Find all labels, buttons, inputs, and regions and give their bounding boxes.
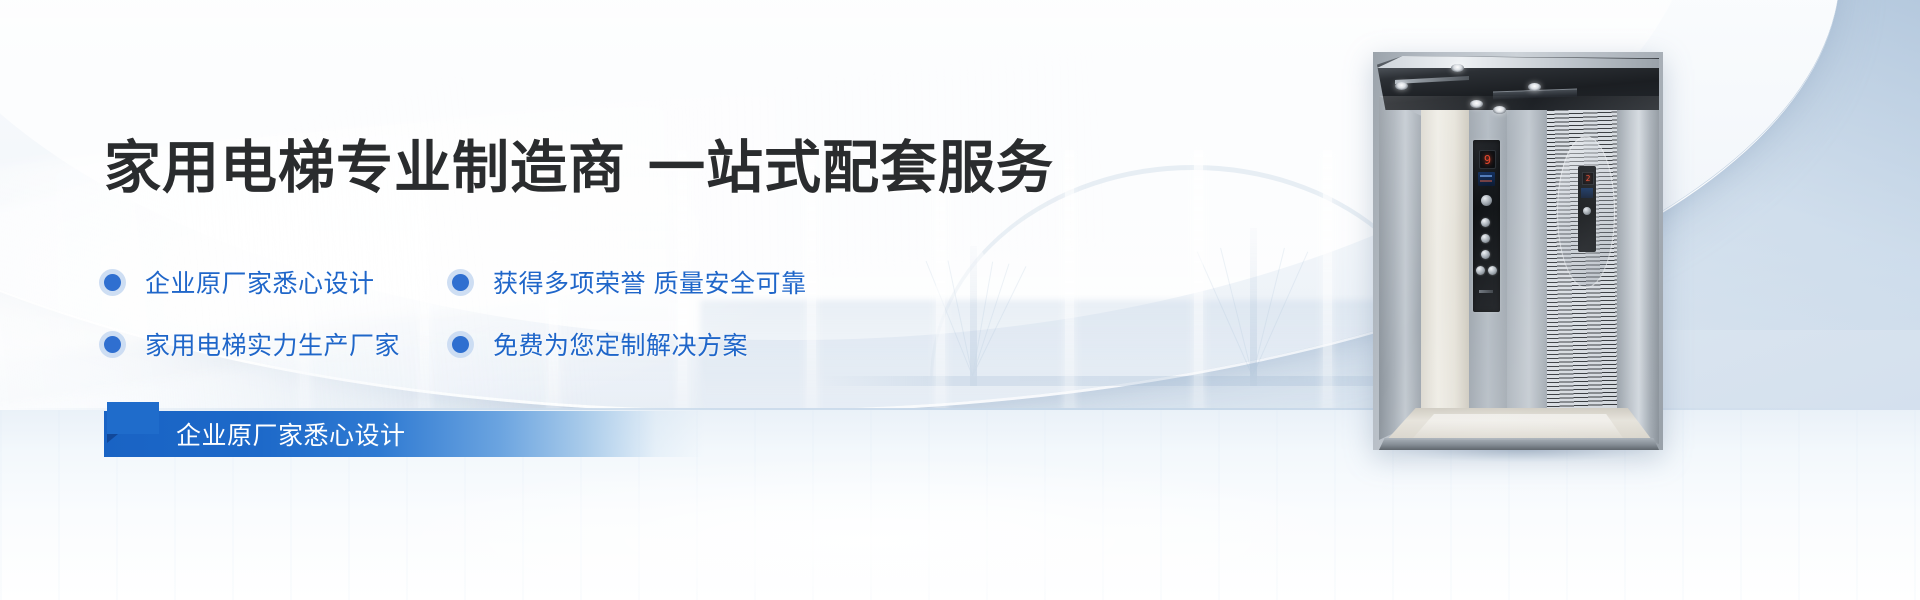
secondary-floor-display: 2 (1582, 172, 1594, 185)
secondary-info-strip (1581, 188, 1593, 198)
headline-secondary: 一站式配套服务 (648, 136, 1054, 200)
floor-indicator-value: 9 (1484, 154, 1491, 166)
ceiling-spotlight-icon (1528, 83, 1541, 91)
door-close-button[interactable] (1488, 266, 1497, 275)
window-mullion (1323, 150, 1332, 450)
secondary-main-button[interactable] (1583, 207, 1591, 215)
promo-banner: 家用电梯专业制造商一站式配套服务 企业原厂家悉心设计 获得多项荣誉 质量安全可靠… (0, 0, 1920, 600)
bullet-dot-icon (452, 274, 469, 291)
elevator-cream-panel (1421, 100, 1469, 436)
elevator-right-wall (1617, 92, 1659, 444)
ceiling-spotlight-icon (1395, 82, 1408, 90)
page-title: 家用电梯专业制造商一站式配套服务 (104, 122, 1054, 204)
banner-content: 家用电梯专业制造商一站式配套服务 企业原厂家悉心设计 获得多项荣誉 质量安全可靠… (0, 0, 1100, 600)
panel-card-slot[interactable] (1479, 290, 1493, 293)
list-item: 获得多项荣誉 质量安全可靠 (452, 264, 806, 300)
secondary-floor-value: 2 (1586, 175, 1591, 183)
bullet-dot-icon (104, 274, 121, 291)
floor-button[interactable] (1481, 250, 1490, 259)
ceiling-spotlight-icon (1493, 106, 1506, 114)
bullet-label: 企业原厂家悉心设计 (145, 264, 375, 300)
door-open-button[interactable] (1476, 266, 1485, 275)
list-item: 家用电梯实力生产厂家 (104, 326, 452, 362)
list-item: 免费为您定制解决方案 (452, 326, 748, 362)
ceiling-spotlight-icon (1451, 64, 1464, 72)
elevator-cabin-image: 9 2 (1373, 52, 1663, 450)
floor-button[interactable] (1481, 234, 1490, 243)
floor-indicator-display: 9 (1479, 150, 1496, 169)
ribbon-tag: 企业原厂家悉心设计 (104, 411, 704, 457)
bullet-label: 家用电梯实力生产厂家 (145, 326, 400, 362)
panel-info-strip (1478, 172, 1495, 186)
panel-main-button[interactable] (1481, 195, 1492, 206)
headline-primary: 家用电梯专业制造商 (104, 136, 626, 200)
elevator-back-panel-right (1507, 102, 1547, 434)
list-item: 企业原厂家悉心设计 (104, 264, 452, 300)
floor-button[interactable] (1481, 218, 1490, 227)
ceiling-spotlight-icon (1470, 100, 1483, 108)
bullet-label: 获得多项荣誉 质量安全可靠 (493, 264, 806, 300)
bullet-label: 免费为您定制解决方案 (493, 326, 748, 362)
ribbon-flag-icon (107, 402, 159, 434)
elevator-door-sill (1379, 438, 1659, 450)
bullet-dot-icon (104, 336, 121, 353)
feature-bullet-list: 企业原厂家悉心设计 获得多项荣誉 质量安全可靠 家用电梯实力生产厂家 免费为您定… (104, 264, 944, 388)
ribbon-label: 企业原厂家悉心设计 (176, 416, 406, 452)
bullet-dot-icon (452, 336, 469, 353)
elevator-left-wall (1379, 96, 1423, 440)
bullet-row: 家用电梯实力生产厂家 免费为您定制解决方案 (104, 326, 944, 362)
bullet-row: 企业原厂家悉心设计 获得多项荣誉 质量安全可靠 (104, 264, 944, 300)
elevator-floor-tile (1413, 414, 1623, 438)
